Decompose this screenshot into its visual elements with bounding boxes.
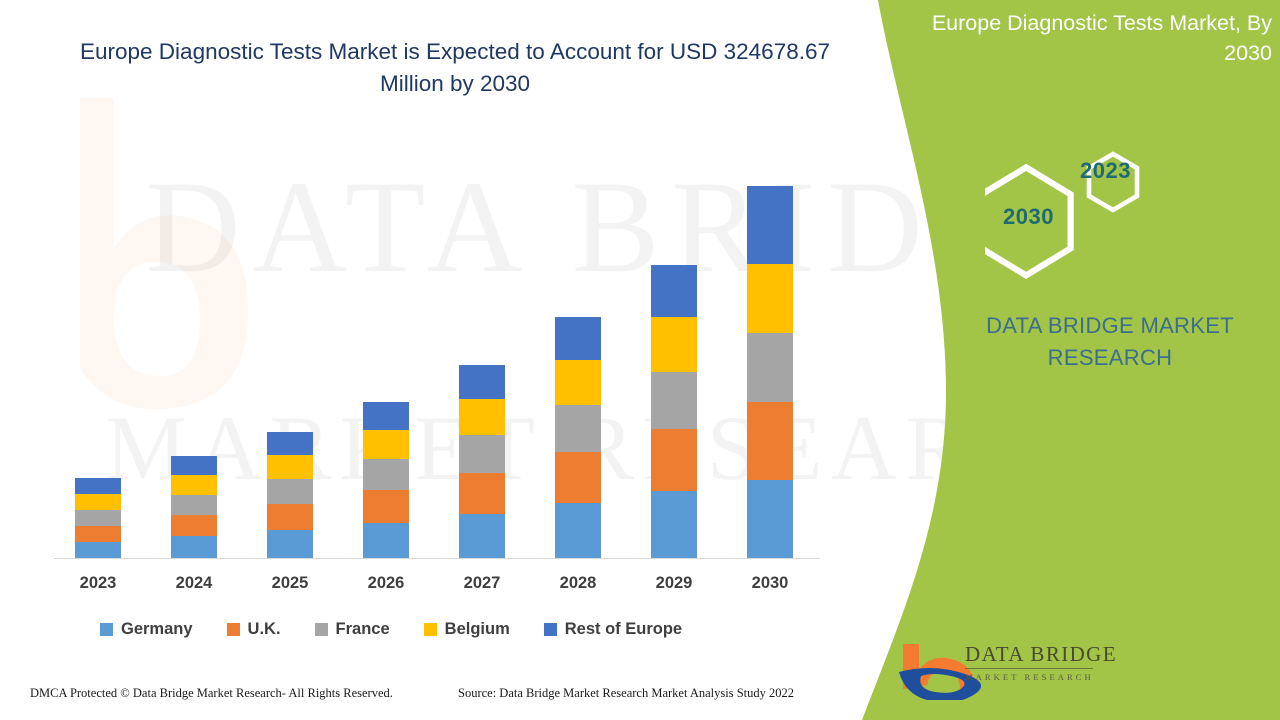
bar-segment-rest-of-europe	[267, 432, 313, 455]
bar-segment-rest-of-europe	[459, 365, 505, 399]
bar-segment-france	[651, 372, 697, 429]
bar-segment-u-k-	[75, 526, 121, 542]
bar-segment-u-k-	[267, 504, 313, 530]
x-axis-line	[54, 558, 820, 559]
hex-label-2030: 2030	[1003, 204, 1054, 230]
bar-2027	[459, 365, 505, 558]
bar-segment-rest-of-europe	[747, 186, 793, 264]
bar-2026	[363, 402, 409, 558]
legend-item-rest-of-europe[interactable]: Rest of Europe	[544, 620, 682, 639]
logo-divider	[965, 668, 1093, 669]
bar-2030	[747, 186, 793, 558]
bar-segment-france	[75, 510, 121, 526]
bar-segment-rest-of-europe	[555, 317, 601, 360]
bar-segment-france	[267, 479, 313, 504]
bar-segment-france	[363, 459, 409, 490]
bar-segment-u-k-	[555, 452, 601, 503]
bar-segment-u-k-	[651, 429, 697, 491]
bar-segment-u-k-	[459, 473, 505, 514]
bar-2023	[75, 478, 121, 558]
x-axis-label-2024: 2024	[154, 574, 234, 593]
bar-segment-u-k-	[363, 490, 409, 523]
logo-main-text: DATA BRIDGE	[965, 642, 1165, 666]
x-axis-label-2029: 2029	[634, 574, 714, 593]
logo-wordmark: DATA BRIDGE MARKET RESEARCH	[965, 642, 1165, 683]
panel-title: Europe Diagnostic Tests Market, By 2030	[880, 8, 1272, 68]
bar-segment-germany	[651, 491, 697, 558]
bar-segment-france	[555, 405, 601, 452]
legend-label: France	[336, 620, 390, 639]
legend-item-belgium[interactable]: Belgium	[424, 620, 510, 639]
legend-swatch-icon	[424, 623, 437, 636]
legend-item-u-k-[interactable]: U.K.	[227, 620, 281, 639]
bar-segment-germany	[747, 480, 793, 558]
bar-segment-rest-of-europe	[75, 478, 121, 494]
bar-segment-rest-of-europe	[363, 402, 409, 430]
x-axis-label-2023: 2023	[58, 574, 138, 593]
bar-segment-france	[459, 435, 505, 473]
legend-label: Rest of Europe	[565, 620, 682, 639]
legend-label: Germany	[121, 620, 193, 639]
footer-source-text: Source: Data Bridge Market Research Mark…	[458, 686, 794, 701]
hexagon-badges: 2030 2023	[985, 142, 1170, 287]
bar-segment-france	[171, 495, 217, 515]
x-axis-label-2025: 2025	[250, 574, 330, 593]
x-axis-label-2030: 2030	[730, 574, 810, 593]
bar-segment-germany	[75, 542, 121, 558]
bar-segment-belgium	[75, 494, 121, 510]
legend-label: Belgium	[445, 620, 510, 639]
legend-swatch-icon	[315, 623, 328, 636]
x-axis-label-2026: 2026	[346, 574, 426, 593]
legend-item-germany[interactable]: Germany	[100, 620, 193, 639]
legend-swatch-icon	[227, 623, 240, 636]
bar-segment-u-k-	[171, 515, 217, 536]
bar-segment-france	[747, 333, 793, 402]
chart-legend: GermanyU.K.FranceBelgiumRest of Europe	[100, 617, 800, 641]
bar-segment-belgium	[459, 399, 505, 435]
bar-segment-belgium	[555, 360, 601, 405]
bar-segment-belgium	[171, 475, 217, 495]
legend-swatch-icon	[544, 623, 557, 636]
bar-segment-u-k-	[747, 402, 793, 480]
footer-dmca-text: DMCA Protected © Data Bridge Market Rese…	[30, 686, 393, 701]
bar-segment-germany	[459, 514, 505, 558]
bar-2025	[267, 432, 313, 558]
bar-2029	[651, 265, 697, 558]
bar-segment-germany	[555, 503, 601, 558]
bar-segment-belgium	[267, 455, 313, 479]
bar-2024	[171, 456, 217, 558]
bar-segment-germany	[363, 523, 409, 558]
legend-label: U.K.	[248, 620, 281, 639]
infographic-root: DATA BRIDGE MARKET RESEARCH Europe Diagn…	[0, 0, 1280, 720]
legend-swatch-icon	[100, 623, 113, 636]
bar-segment-belgium	[651, 317, 697, 372]
panel-brand-text: DATA BRIDGE MARKET RESEARCH	[950, 310, 1270, 374]
chart-plot-area: 20232024202520262027202820292030	[0, 0, 860, 720]
bar-segment-germany	[171, 536, 217, 558]
x-axis-label-2028: 2028	[538, 574, 618, 593]
bar-segment-rest-of-europe	[171, 456, 217, 475]
bar-segment-belgium	[747, 264, 793, 333]
bar-2028	[555, 317, 601, 558]
bar-segment-germany	[267, 530, 313, 558]
hex-label-2023: 2023	[1080, 158, 1131, 184]
bar-segment-belgium	[363, 430, 409, 459]
legend-item-france[interactable]: France	[315, 620, 390, 639]
x-axis-label-2027: 2027	[442, 574, 522, 593]
bar-segment-rest-of-europe	[651, 265, 697, 317]
footer: DMCA Protected © Data Bridge Market Rese…	[0, 686, 860, 706]
logo-sub-text: MARKET RESEARCH	[965, 672, 1165, 683]
